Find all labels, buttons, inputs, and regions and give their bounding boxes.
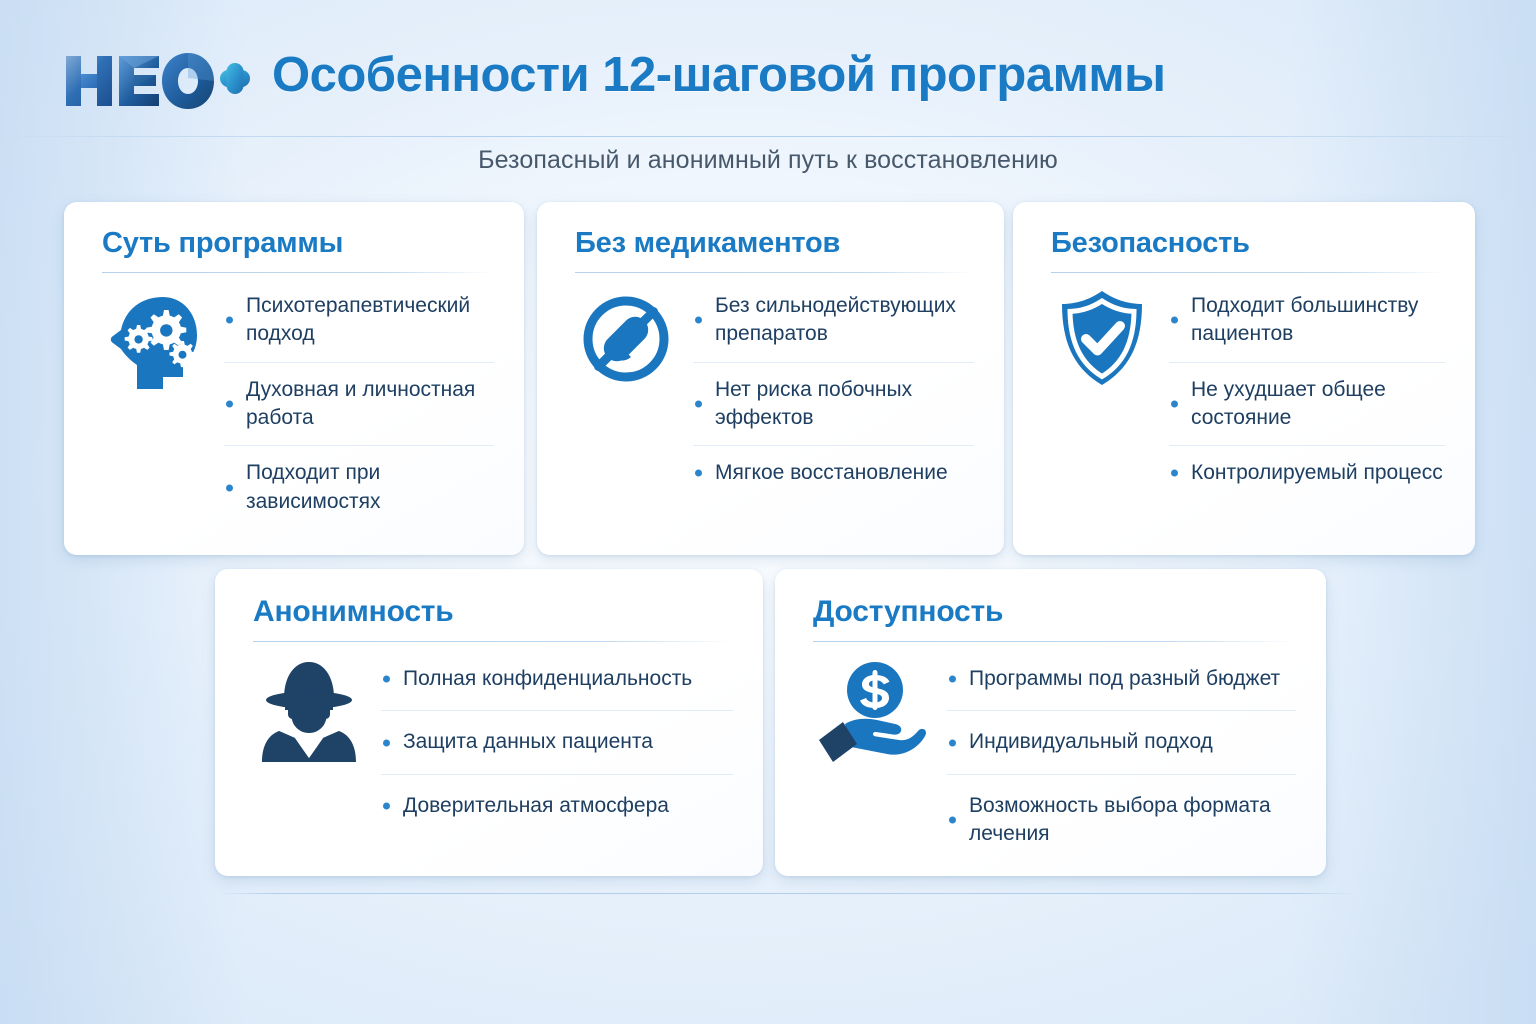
list-item: Программы под разный бюджет [947,648,1296,710]
footer-divider [218,893,1354,894]
header-divider [0,136,1536,137]
list-item: Возможность выбора формата лечения [947,774,1296,866]
list-item: Нет риска побочных эффектов [693,362,974,446]
hand-holding-dollar-icon [813,648,931,762]
shield-check-icon [1051,279,1153,387]
bullet-dot-icon [1171,317,1178,324]
card-title: Без медикаментов [575,228,974,260]
list-item: Не ухудшает общее состояние [1169,362,1445,446]
list-item: Полная конфиденциальность [381,648,733,710]
list-item: Подходит при зависимостях [224,445,494,529]
list-item-label: Нет риска побочных эффектов [715,376,974,433]
list-item: Защита данных пациента [381,710,733,773]
card-no-medications[interactable]: Без медикаментов [537,202,1004,555]
list-item-label: Контролируемый процесс [1191,459,1445,487]
bullet-list: Подходит большинству пациентов Не ухудша… [1169,279,1445,501]
card-title-divider [102,272,494,273]
bullet-dot-icon [949,817,956,824]
bullet-dot-icon [949,676,956,683]
bullet-dot-icon [383,802,390,809]
card-title-divider [1051,272,1445,273]
list-item: Доверительная атмосфера [381,774,733,837]
page-title: Особенности 12-шаговой программы [272,47,1165,103]
list-item-label: Подходит при зависимостях [246,459,494,516]
page-header: Особенности 12-шаговой программы [0,0,1536,136]
card-title-divider [575,272,974,273]
list-item: Подходит большинству пациентов [1169,279,1445,362]
bullet-dot-icon [695,470,702,477]
list-item-label: Без сильнодействующих препаратов [715,292,974,349]
bullet-dot-icon [1171,470,1178,477]
list-item: Мягкое восстановление [693,445,974,500]
list-item-label: Индивидуальный подход [969,728,1296,756]
list-item: Без сильнодействующих препаратов [693,279,974,362]
bullet-dot-icon [226,400,233,407]
bullet-list: Без сильнодействующих препаратов Нет рис… [693,279,974,501]
list-item: Психотерапевтический подход [224,279,494,362]
list-item: Контролируемый процесс [1169,445,1445,500]
list-item-label: Программы под разный бюджет [969,665,1296,693]
bullet-list: Полная конфиденциальность Защита данных … [381,648,733,837]
list-item-label: Возможность выбора формата лечения [969,792,1296,849]
card-anonymity[interactable]: Анонимность [215,569,763,876]
bullet-dot-icon [226,484,233,491]
bullet-list: Психотерапевтический подход Духовная и л… [224,279,494,529]
bullet-dot-icon [226,317,233,324]
page-subtitle: Безопасный и анонимный путь к восстановл… [0,146,1536,175]
list-item: Индивидуальный подход [947,710,1296,773]
list-item-label: Защита данных пациента [403,728,733,756]
list-item-label: Мягкое восстановление [715,459,974,487]
card-title: Безопасность [1051,228,1445,260]
bullet-dot-icon [949,739,956,746]
infographic-canvas: Особенности 12-шаговой программы Безопас… [0,0,1536,1024]
bullet-dot-icon [383,676,390,683]
list-item-label: Духовная и личностная работа [246,376,494,433]
card-essence[interactable]: Суть программы [64,202,524,555]
list-item-label: Подходит большинству пациентов [1191,292,1445,349]
list-item-label: Психотерапевтический подход [246,292,494,349]
card-affordability[interactable]: Доступность [775,569,1326,876]
bullet-list: Программы под разный бюджет Индивидуальн… [947,648,1296,865]
list-item-label: Полная конфиденциальность [403,665,733,693]
bullet-dot-icon [383,739,390,746]
head-gears-icon [102,279,208,393]
bullet-dot-icon [695,317,702,324]
list-item-label: Не ухудшает общее состояние [1191,376,1445,433]
bullet-dot-icon [1171,400,1178,407]
neo-plus-logo [64,50,250,112]
card-safety[interactable]: Безопасность Подходит большинству пациен… [1013,202,1475,555]
card-title: Анонимность [253,595,733,628]
spy-incognito-icon [253,648,365,766]
list-item-label: Доверительная атмосфера [403,792,733,820]
bullet-dot-icon [695,400,702,407]
card-title: Суть программы [102,228,494,260]
no-pills-icon [575,279,677,385]
card-title-divider [253,641,733,642]
list-item: Духовная и личностная работа [224,362,494,446]
card-title-divider [813,641,1296,642]
card-title: Доступность [813,595,1296,628]
